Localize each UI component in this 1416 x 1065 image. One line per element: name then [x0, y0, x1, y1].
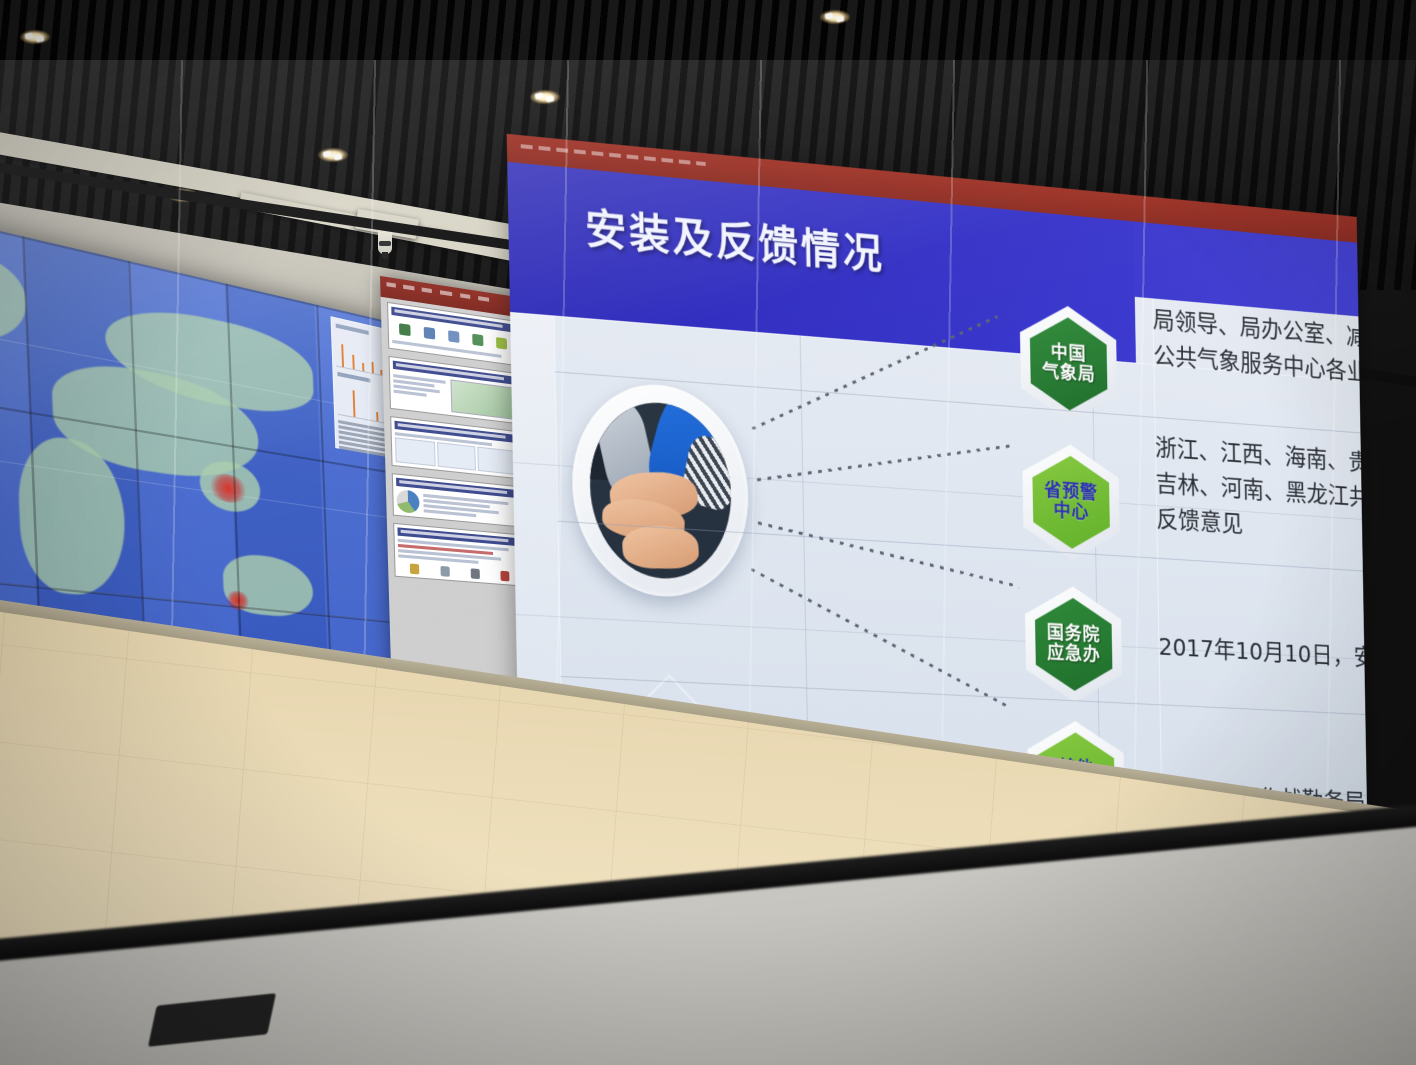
row-text-2-line3: 反馈意见	[1156, 503, 1243, 540]
hexagon-label-line2: 气象局	[1042, 362, 1096, 386]
hexagon-label-line2: 应急办	[1047, 643, 1101, 666]
hexagon-badge-3[interactable]: 国务院 应急办	[1024, 584, 1122, 705]
slide-thumbnail[interactable]	[393, 523, 523, 587]
slide-thumbnail[interactable]	[388, 356, 518, 424]
connector-line	[757, 444, 1012, 481]
row-text-3-line1: 2017年10月10日，安装并试用，反映良好	[1158, 631, 1369, 683]
wall-top-band-text	[521, 144, 706, 166]
photo-ring	[570, 378, 750, 601]
connector-line	[758, 521, 1019, 587]
control-room-scene: 安装及反馈情况	[0, 0, 1416, 1065]
ceiling-spotlight-icon	[20, 30, 50, 44]
hexagon-badge-2[interactable]: 省预警 中心	[1022, 441, 1120, 563]
teamwork-hands-photo	[588, 398, 732, 583]
slide-thumbnail[interactable]	[390, 416, 520, 479]
slide-thumbnail[interactable]	[392, 473, 522, 527]
hexagon-label-line2: 中心	[1053, 501, 1089, 523]
ceiling-spotlight-icon	[820, 10, 850, 24]
